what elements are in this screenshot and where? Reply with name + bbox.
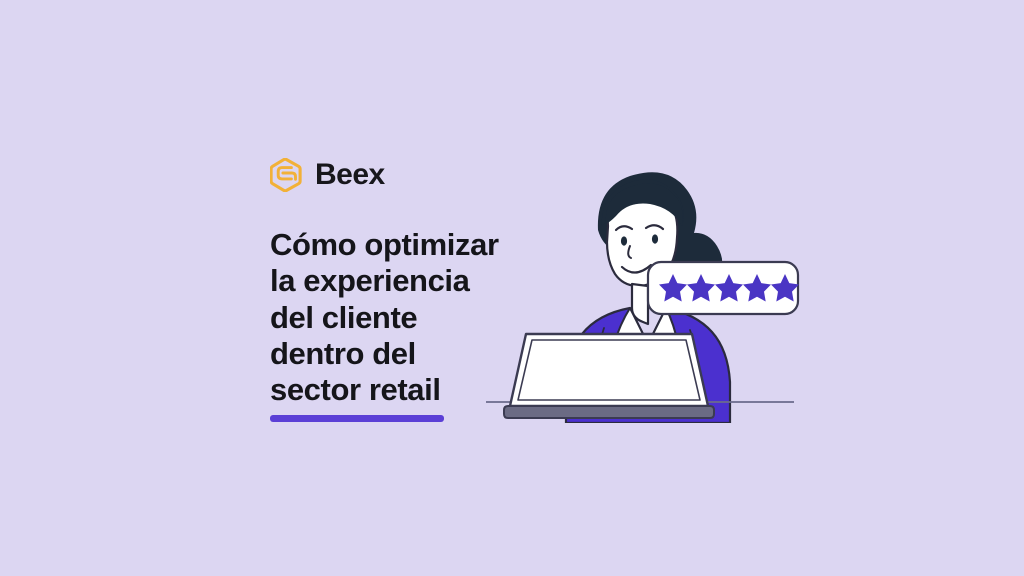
headline-underline [270, 415, 444, 422]
hero-illustration [480, 138, 800, 423]
rating-badge [648, 262, 799, 314]
beex-hexagon-logo-icon [270, 158, 304, 192]
eye-right [652, 234, 658, 243]
eye-left [621, 236, 627, 245]
brand-name: Beex [315, 160, 385, 190]
laptop [504, 334, 714, 418]
poster-canvas: Beex Cómo optimizar la experiencia del c… [0, 0, 1024, 576]
woman-at-laptop-illustration [480, 138, 800, 423]
